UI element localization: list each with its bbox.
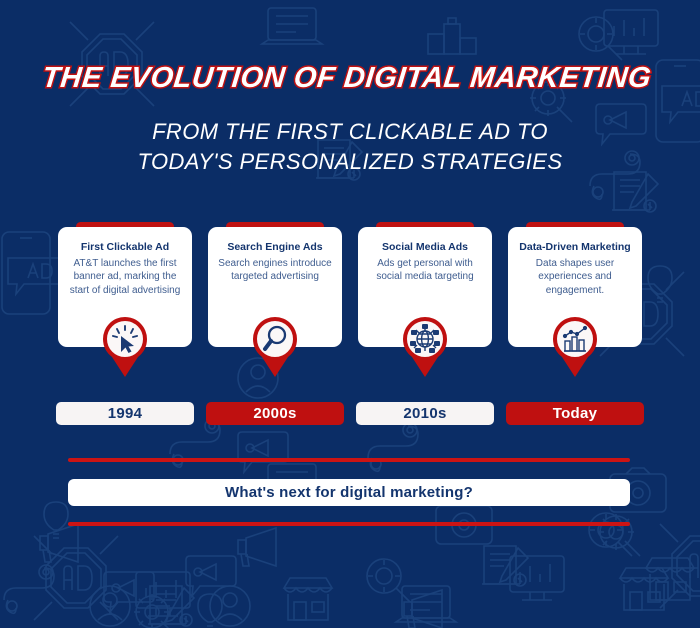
timeline-year-pill[interactable]: Today	[506, 402, 644, 425]
page-subtitle: FROM THE FIRST CLICKABLE AD TO TODAY'S P…	[0, 95, 700, 176]
card-title: Data-Driven Marketing	[517, 241, 633, 254]
card-title: Search Engine Ads	[217, 241, 333, 254]
timeline-item-2010s[interactable]: Social Media Ads Ads get personal with s…	[358, 222, 492, 430]
cta-banner[interactable]: What's next for digital marketing?	[68, 479, 630, 506]
card-title: First Clickable Ad	[67, 241, 183, 254]
timeline-year-pill[interactable]: 2000s	[206, 402, 344, 425]
subtitle-line-1: FROM THE FIRST CLICKABLE AD TO	[0, 117, 700, 147]
card-description: Search engines introduce targeted advert…	[217, 257, 333, 283]
timeline-item-today[interactable]: Data-Driven Marketing Data shapes user e…	[508, 222, 642, 430]
footer: What's next for digital marketing?	[68, 458, 630, 526]
infographic-stage: THE EVOLUTION OF DIGITAL MARKETING FROM …	[0, 0, 700, 628]
year-label: 2000s	[253, 405, 296, 422]
card-description: AT&T launches the first banner ad, marki…	[67, 257, 183, 297]
year-label: 1994	[108, 405, 143, 422]
timeline-pin	[98, 317, 152, 379]
cta-label: What's next for digital marketing?	[225, 484, 473, 501]
year-label: Today	[553, 405, 598, 422]
card-description: Data shapes user experiences and engagem…	[517, 257, 633, 297]
page-title: THE EVOLUTION OF DIGITAL MARKETING	[0, 0, 700, 95]
timeline-year-pill[interactable]: 1994	[56, 402, 194, 425]
timeline-item-1994[interactable]: First Clickable Ad AT&T launches the fir…	[58, 222, 192, 430]
card-description: Ads get personal with social media targe…	[367, 257, 483, 283]
timeline-pin	[248, 317, 302, 379]
timeline-year-pill[interactable]: 2010s	[356, 402, 494, 425]
card-title: Social Media Ads	[367, 241, 483, 254]
divider-bottom	[68, 522, 630, 526]
divider-top	[68, 458, 630, 462]
timeline-item-2000s[interactable]: Search Engine Ads Search engines introdu…	[208, 222, 342, 430]
timeline-pin	[548, 317, 602, 379]
timeline: First Clickable Ad AT&T launches the fir…	[55, 222, 645, 430]
header: THE EVOLUTION OF DIGITAL MARKETING FROM …	[0, 0, 700, 176]
timeline-pin	[398, 317, 452, 379]
year-label: 2010s	[403, 405, 446, 422]
subtitle-line-2: TODAY'S PERSONALIZED STRATEGIES	[0, 147, 700, 177]
